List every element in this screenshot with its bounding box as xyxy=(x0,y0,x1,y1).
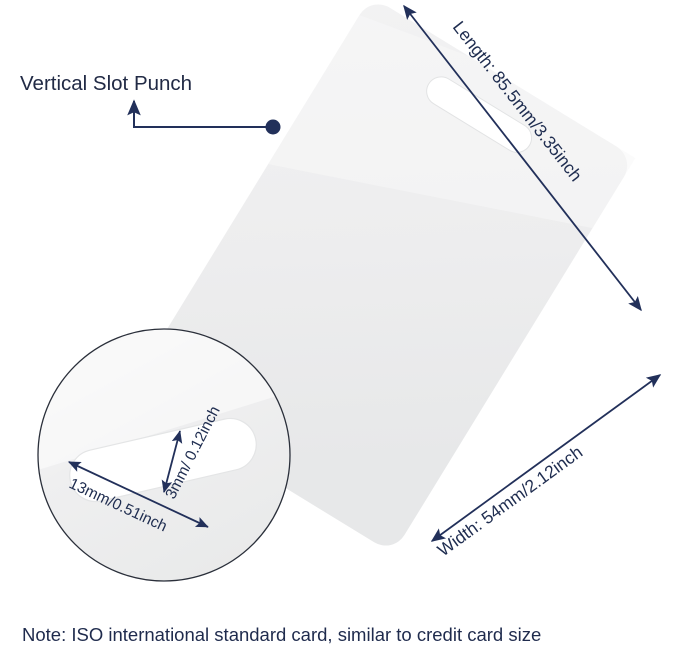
callout-leader-line xyxy=(134,101,273,127)
vertical-slot-punch-callout xyxy=(134,101,281,135)
magnified-slot-detail: 13mm/0.51inch 3mm/ 0.12inch xyxy=(38,329,290,581)
slot-punch-marker-dot xyxy=(266,120,281,135)
iso-standard-note: Note: ISO international standard card, s… xyxy=(22,624,541,645)
detail-circle-content xyxy=(38,329,290,581)
vertical-slot-punch-label: Vertical Slot Punch xyxy=(20,72,192,95)
diagram-canvas: Length: 85.5mm/3.35inch Width: 54mm/2.12… xyxy=(0,0,679,656)
card-dimension-diagram: Length: 85.5mm/3.35inch Width: 54mm/2.12… xyxy=(0,0,679,656)
width-dimension-label: Width: 54mm/2.12inch xyxy=(434,442,587,561)
